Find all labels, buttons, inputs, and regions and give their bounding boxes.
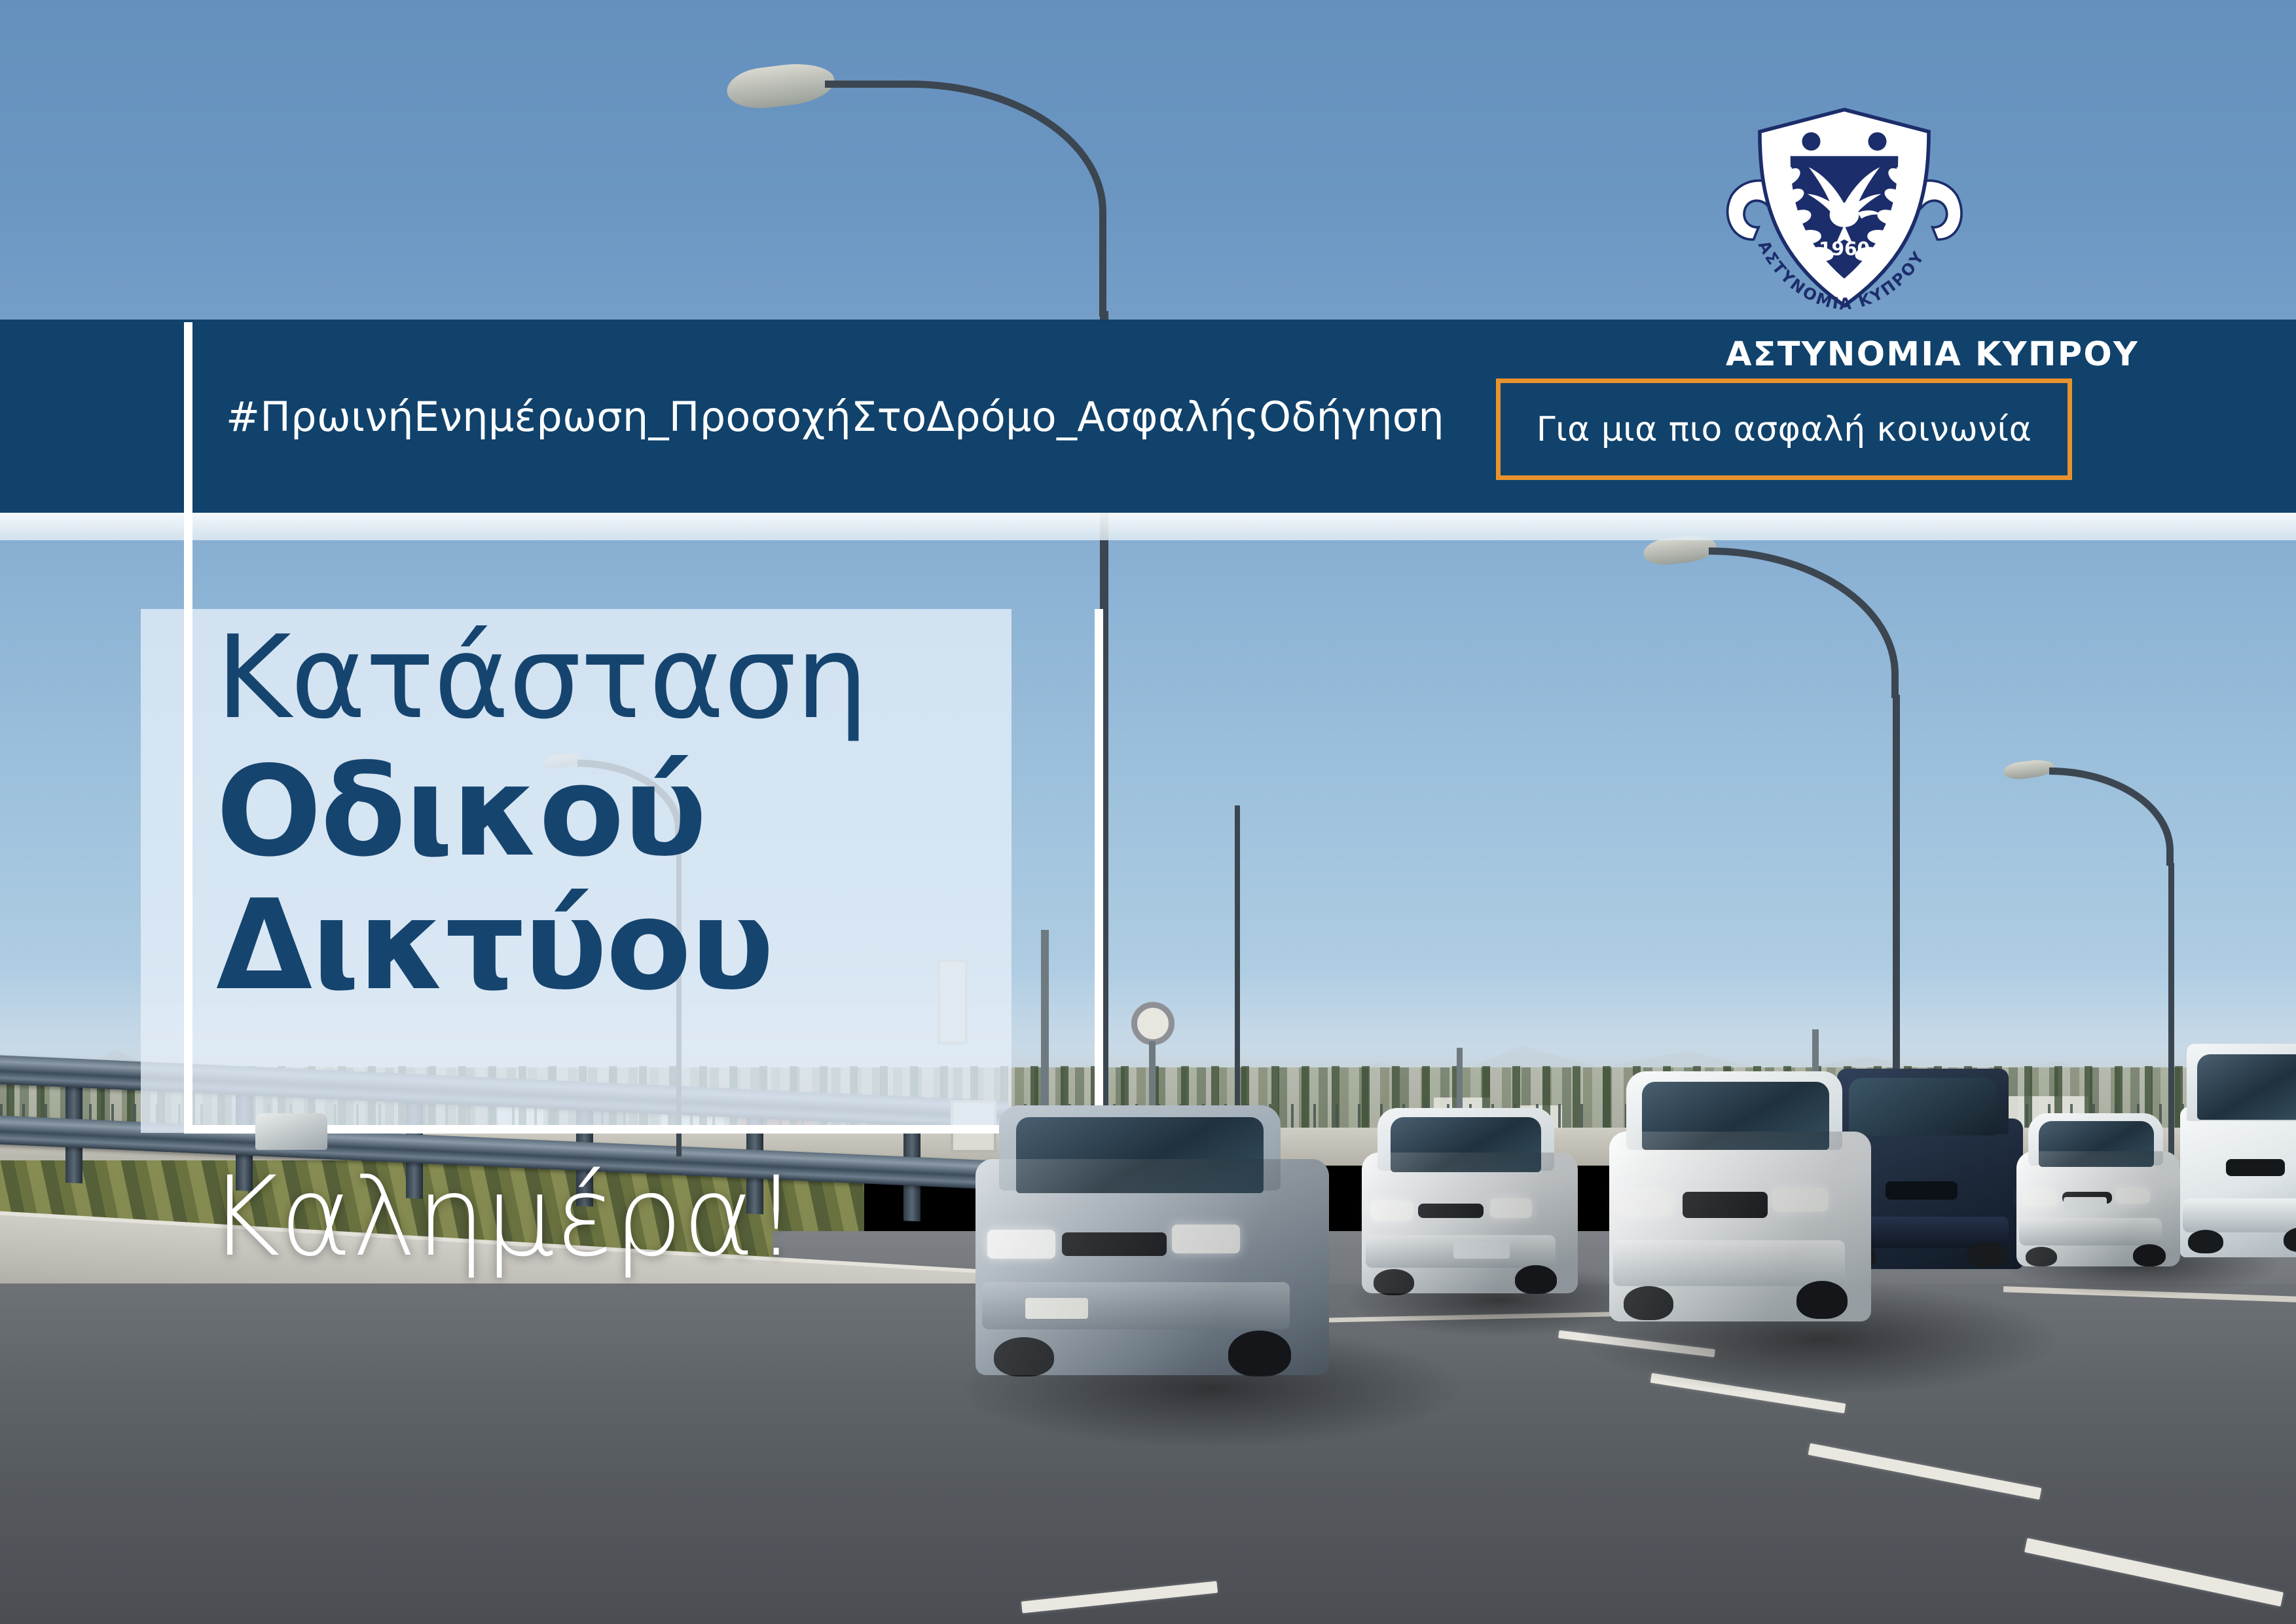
- car-highlight: [1362, 1153, 1578, 1293]
- car-highlight: [2016, 1151, 2180, 1266]
- street-lamp: [1231, 779, 1244, 1146]
- vehicle-white-compact: [2016, 1151, 2180, 1266]
- title-line-2: Οδικού: [216, 750, 1041, 874]
- page-title: Κατάσταση Οδικού Δικτύου: [216, 621, 1041, 1008]
- grille: [2226, 1159, 2285, 1176]
- round-road-sign: [1131, 1002, 1175, 1045]
- wheel: [2188, 1230, 2223, 1253]
- cyprus-police-crest-icon: 1960 ΑΣΤΥΝΟΜΙΑ ΚΥΠΡΟΥ: [1721, 103, 1968, 312]
- vehicle-white-hatchback: [1362, 1153, 1578, 1293]
- slogan-text: Για μια πιο ασφαλή κοινωνία: [1537, 410, 2032, 449]
- accent-line-left: [184, 322, 192, 1133]
- windshield: [2197, 1054, 2296, 1120]
- header-underline-strip: [0, 513, 2296, 540]
- crest-year: 1960: [1819, 238, 1870, 260]
- vehicle-white-truck: [2180, 1107, 2296, 1257]
- car-highlight: [975, 1159, 1329, 1375]
- front-bumper: [2183, 1198, 2296, 1232]
- wheel: [1967, 1242, 2007, 1268]
- lamp-pole: [1235, 805, 1240, 1133]
- slogan-box: Για μια πιο ασφαλή κοινωνία: [1496, 378, 2072, 480]
- greeting-text: Καλημέρα!: [208, 1153, 797, 1281]
- lamp-head: [2003, 758, 2056, 781]
- vehicle-white-suv: [1609, 1132, 1871, 1321]
- lamp-head: [725, 59, 837, 113]
- accent-line-right: [1095, 609, 1103, 1133]
- title-line-1: Κατάσταση: [216, 621, 1041, 735]
- vehicle-distant: [255, 1113, 327, 1150]
- lamp-arm: [825, 81, 1106, 316]
- car-highlight: [1609, 1132, 1871, 1321]
- car-body: [255, 1113, 327, 1150]
- hashtag-text: #ΠρωινήΕνημέρωση_ΠροσοχήΣτοΔρόμο_Ασφαλής…: [226, 393, 1444, 441]
- windshield: [1849, 1078, 1997, 1135]
- title-line-3: Δικτύου: [216, 883, 1041, 1008]
- vehicle-silver-hatchback: [975, 1159, 1329, 1375]
- lamp-arm: [2049, 767, 2174, 866]
- lamp-arm: [1709, 547, 1899, 698]
- grille: [1886, 1181, 1958, 1200]
- poster-canvas: #ΠρωινήΕνημέρωση_ΠροσοχήΣτοΔρόμο_Ασφαλής…: [0, 0, 2296, 1624]
- brand-name: ΑΣΤΥΝΟΜΙΑ ΚΥΠΡΟΥ: [1550, 335, 2139, 374]
- brand-block: ΑΣΤΥΝΟΜΙΑ ΚΥΠΡΟΥ: [1550, 335, 2139, 379]
